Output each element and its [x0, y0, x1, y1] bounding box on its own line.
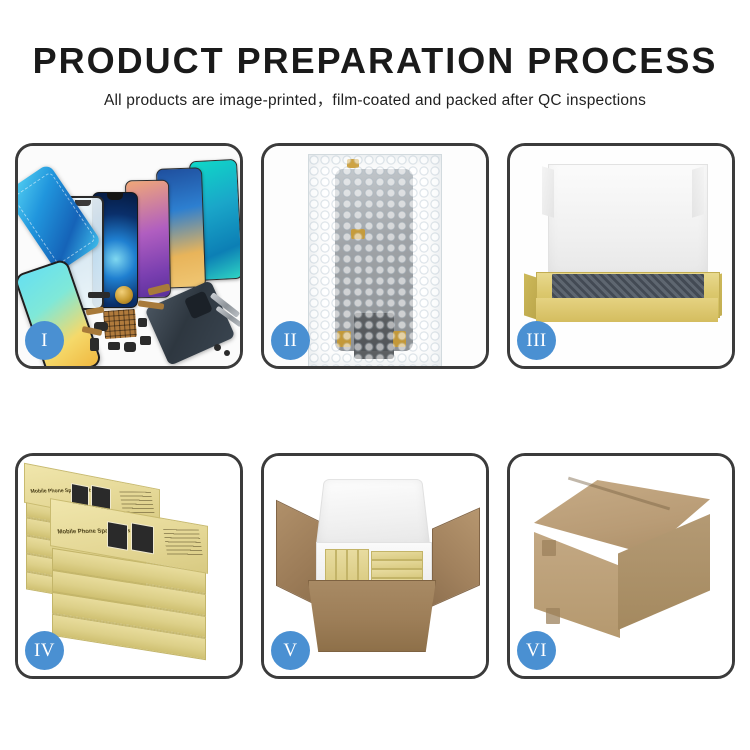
wrapped-screen-part-icon — [335, 169, 413, 351]
screw-plate-icon — [103, 309, 137, 339]
step-badge-2: II — [271, 321, 310, 360]
foam-lid-icon — [316, 479, 431, 548]
part-connector-icon — [140, 336, 151, 345]
screw-icon-2 — [224, 350, 230, 356]
tape-icon-4 — [393, 331, 406, 347]
inner-box-icon-6 — [371, 560, 423, 569]
step-badge-3: III — [517, 321, 556, 360]
part-sim-tray-icon — [90, 338, 99, 351]
step-panel-2[interactable]: II — [261, 143, 489, 369]
step-badge-6: VI — [517, 631, 556, 670]
page-title: PRODUCT PREPARATION PROCESS — [0, 40, 750, 82]
step-badge-1: I — [25, 321, 64, 360]
step-badge-5: V — [271, 631, 310, 670]
tape-icon-3 — [337, 331, 351, 347]
vibration-motor-icon — [115, 286, 133, 304]
tape-icon-1 — [347, 159, 359, 168]
screw-icon-1 — [214, 344, 221, 351]
process-step-grid: I II — [15, 143, 735, 679]
carton-body-icon — [308, 580, 436, 652]
step-panel-3[interactable]: III — [507, 143, 735, 369]
mailer-lid-left-flap-icon — [542, 166, 554, 217]
step-panel-4[interactable]: Mobile Phone Spare Parts Mobile Phone Sp… — [15, 453, 243, 679]
box-text-lines-front — [163, 529, 203, 556]
carton-tape-icon-1 — [542, 540, 556, 556]
box-window-front-1 — [107, 521, 128, 551]
product-preparation-infographic: PRODUCT PREPARATION PROCESS All products… — [0, 0, 750, 750]
part-bracket-icon — [108, 342, 120, 350]
inner-box-icon-5 — [371, 551, 423, 560]
step-panel-6[interactable]: VI — [507, 453, 735, 679]
box-window-front-2 — [131, 522, 154, 554]
part-button-icon — [124, 342, 136, 352]
tape-icon-2 — [351, 229, 365, 239]
part-chip-icon — [138, 318, 147, 327]
step-badge-4: IV — [25, 631, 64, 670]
part-speaker-icon — [88, 292, 110, 298]
page-subtitle: All products are image-printed，film-coat… — [0, 91, 750, 111]
foam-padding-icon — [552, 274, 704, 300]
header: PRODUCT PREPARATION PROCESS All products… — [0, 40, 750, 111]
mailer-lid-right-flap-icon — [692, 166, 704, 217]
step-panel-1[interactable]: I — [15, 143, 243, 369]
step-panel-5[interactable]: V — [261, 453, 489, 679]
carton-tape-icon-2 — [546, 608, 560, 624]
mailer-box-lid-icon — [548, 164, 708, 284]
bubble-wrap-bag-icon — [308, 154, 442, 366]
inner-box-icon-7 — [371, 569, 423, 578]
mailer-tray-front-icon — [536, 298, 718, 322]
